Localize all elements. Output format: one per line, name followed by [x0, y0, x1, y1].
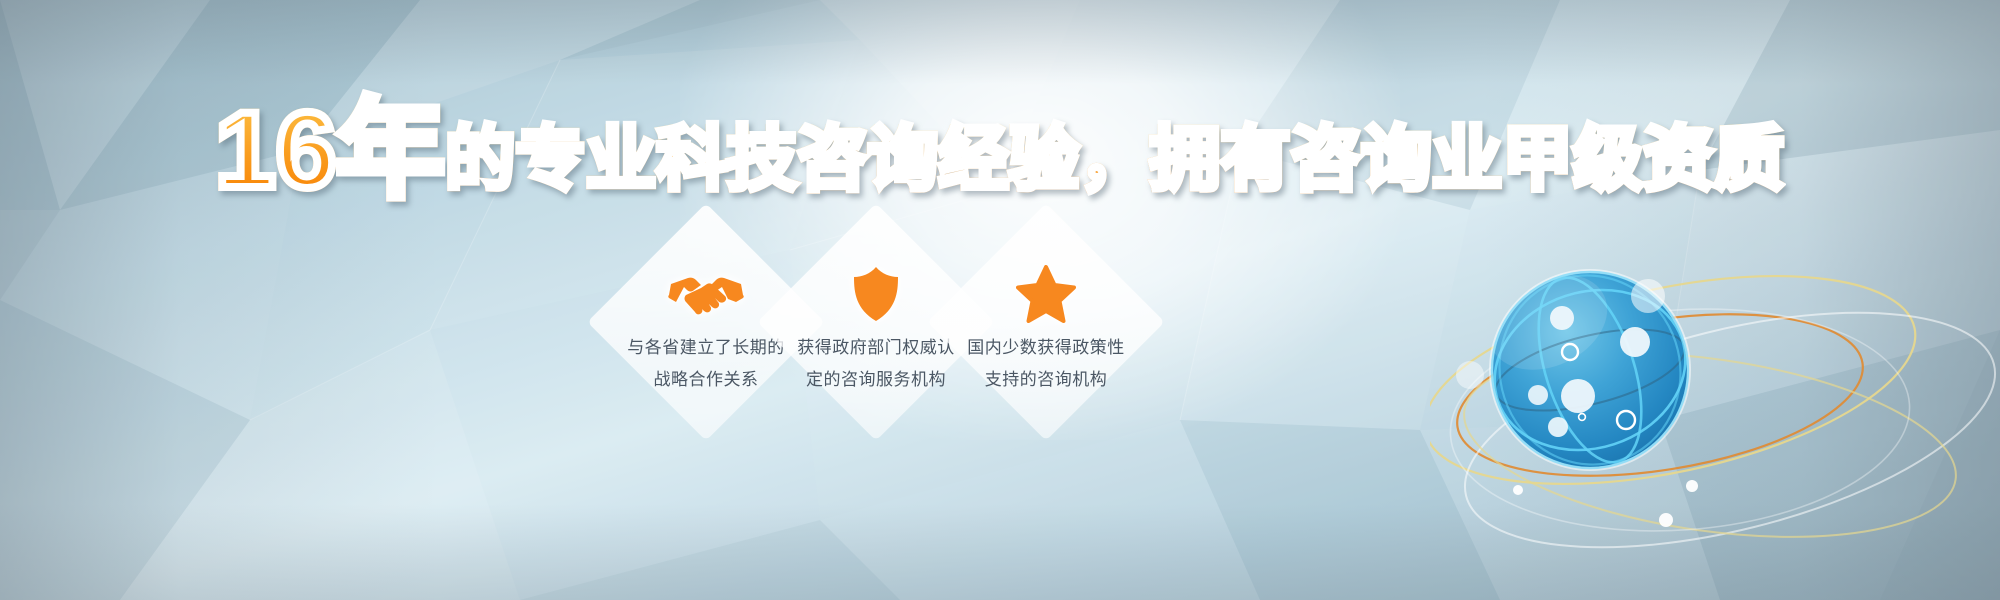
star-icon	[940, 262, 1152, 326]
caption-line-1: 国内少数获得政策性	[936, 332, 1156, 364]
headline-highlight: 16年	[215, 96, 445, 204]
feature-item-policy-support[interactable]: 国内少数获得政策性 支持的咨询机构	[940, 236, 1152, 484]
headline-rest: 的专业科技咨询经验，拥有咨询业甲级资质	[445, 124, 1785, 194]
caption-line-2: 支持的咨询机构	[936, 364, 1156, 396]
headline: 16年的专业科技咨询经验，拥有咨询业甲级资质	[0, 96, 2000, 204]
globe-network-graphic	[1430, 230, 2000, 600]
feature-caption: 国内少数获得政策性 支持的咨询机构	[936, 332, 1156, 396]
feature-list: 与各省建立了长期的 战略合作关系 获得政府部门权威认 定的咨询服务机构	[600, 236, 1160, 496]
promo-banner: 16年的专业科技咨询经验，拥有咨询业甲级资质 与各省建立了长期的 战略合作关系	[0, 0, 2000, 600]
